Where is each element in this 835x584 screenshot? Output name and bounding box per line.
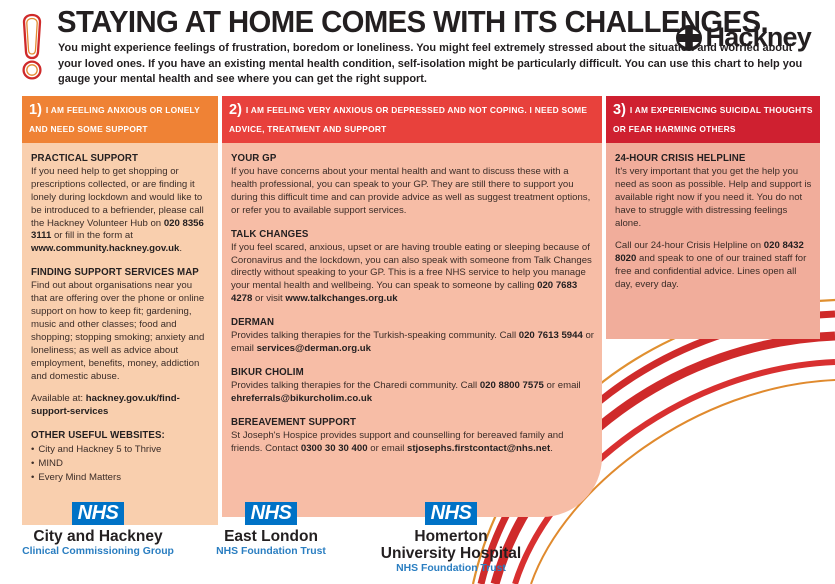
section-heading: TALK CHANGES (231, 228, 594, 241)
section-heading: 24-HOUR CRISIS HELPLINE (615, 152, 812, 165)
content-section: YOUR GPIf you have concerns about your m… (231, 152, 594, 218)
nhs-badge-icon: NHS (245, 502, 298, 525)
logo-nhs-homerton: NHS Homerton University Hospital NHS Fou… (356, 502, 546, 575)
logo-subtitle: NHS Foundation Trust (356, 563, 546, 575)
column-1-number: 1) (29, 102, 42, 118)
column-1-header: 1)I AM FEELING ANXIOUS OR LONELY AND NEE… (22, 96, 218, 143)
nhs-badge-icon: NHS (425, 502, 478, 525)
content-section: 24-HOUR CRISIS HELPLINEIt's very importa… (615, 152, 812, 231)
footer: NHS City and Hackney Clinical Commission… (0, 497, 835, 584)
section-paragraph: If you need help to get shopping or pres… (31, 166, 210, 256)
logo-name: East London (196, 528, 346, 545)
content-section: BEREAVEMENT SUPPORTSt Joseph's Hospice p… (231, 416, 594, 456)
exclamation-mark-icon (10, 8, 54, 88)
section-paragraph: Call our 24-hour Crisis Helpline on 020 … (615, 240, 812, 292)
logo-nhs-east-london: NHS East London NHS Foundation Trust (196, 502, 346, 558)
content-section: Available at: hackney.gov.uk/find-suppor… (31, 393, 210, 419)
content-section: TALK CHANGESIf you feel scared, anxious,… (231, 228, 594, 307)
column-3-number: 3) (613, 102, 626, 118)
column-2-number: 2) (229, 102, 242, 118)
column-1-body: PRACTICAL SUPPORTIf you need help to get… (22, 143, 218, 525)
hackney-wordmark: Hackney (706, 24, 811, 51)
section-paragraph: It's very important that you get the hel… (615, 166, 812, 230)
content-section: PRACTICAL SUPPORTIf you need help to get… (31, 152, 210, 256)
logo-subtitle: NHS Foundation Trust (196, 546, 346, 558)
column-3: 3)I AM EXPERIENCING SUICIDAL THOUGHTS OR… (606, 96, 820, 339)
list-item: MIND (31, 458, 210, 471)
section-heading: FINDING SUPPORT SERVICES MAP (31, 266, 210, 279)
list-item: Every Mind Matters (31, 472, 210, 485)
content-section: FINDING SUPPORT SERVICES MAPFind out abo… (31, 266, 210, 383)
logo-name: City and Hackney (8, 528, 188, 545)
section-heading: OTHER USEFUL WEBSITES: (31, 429, 210, 442)
column-3-heading: I AM EXPERIENCING SUICIDAL THOUGHTS OR F… (613, 105, 813, 134)
logo-subtitle: Clinical Commissioning Group (8, 546, 188, 558)
content-section: BIKUR CHOLIMProvides talking therapies f… (231, 366, 594, 406)
content-section: Call our 24-hour Crisis Helpline on 020 … (615, 240, 812, 292)
section-paragraph: St Joseph's Hospice provides support and… (231, 430, 594, 456)
logo-nhs-city-and-hackney: NHS City and Hackney Clinical Commission… (8, 502, 188, 558)
bullet-list: City and Hackney 5 to ThriveMINDEvery Mi… (31, 444, 210, 485)
column-3-body: 24-HOUR CRISIS HELPLINEIt's very importa… (606, 143, 820, 339)
section-paragraph: If you feel scared, anxious, upset or ar… (231, 242, 594, 306)
section-heading: BEREAVEMENT SUPPORT (231, 416, 594, 429)
content-section: DERMANProvides talking therapies for the… (231, 316, 594, 356)
column-2-header: 2)I AM FEELING VERY ANXIOUS OR DEPRESSED… (222, 96, 602, 143)
column-2-heading: I AM FEELING VERY ANXIOUS OR DEPRESSED A… (229, 105, 587, 134)
list-item: City and Hackney 5 to Thrive (31, 444, 210, 457)
section-paragraph: Available at: hackney.gov.uk/find-suppor… (31, 393, 210, 419)
section-paragraph: If you have concerns about your mental h… (231, 166, 594, 218)
section-heading: YOUR GP (231, 152, 594, 165)
column-3-header: 3)I AM EXPERIENCING SUICIDAL THOUGHTS OR… (606, 96, 820, 143)
column-2: 2)I AM FEELING VERY ANXIOUS OR DEPRESSED… (222, 96, 602, 517)
nhs-badge-icon: NHS (72, 502, 125, 525)
section-heading: PRACTICAL SUPPORT (31, 152, 210, 165)
content-section: OTHER USEFUL WEBSITES:City and Hackney 5… (31, 429, 210, 485)
hackney-h-mark-icon (676, 25, 702, 51)
section-paragraph: Find out about organisations near you th… (31, 280, 210, 383)
logo-hackney-council: Hackney (676, 24, 811, 51)
column-1-heading: I AM FEELING ANXIOUS OR LONELY AND NEED … (29, 105, 200, 134)
logo-name: Homerton University Hospital (356, 528, 546, 562)
section-paragraph: Provides talking therapies for the Chare… (231, 380, 594, 406)
column-1: 1)I AM FEELING ANXIOUS OR LONELY AND NEE… (22, 96, 218, 525)
column-2-body: YOUR GPIf you have concerns about your m… (222, 143, 602, 517)
section-heading: BIKUR CHOLIM (231, 366, 594, 379)
section-paragraph: Provides talking therapies for the Turki… (231, 330, 594, 356)
section-heading: DERMAN (231, 316, 594, 329)
